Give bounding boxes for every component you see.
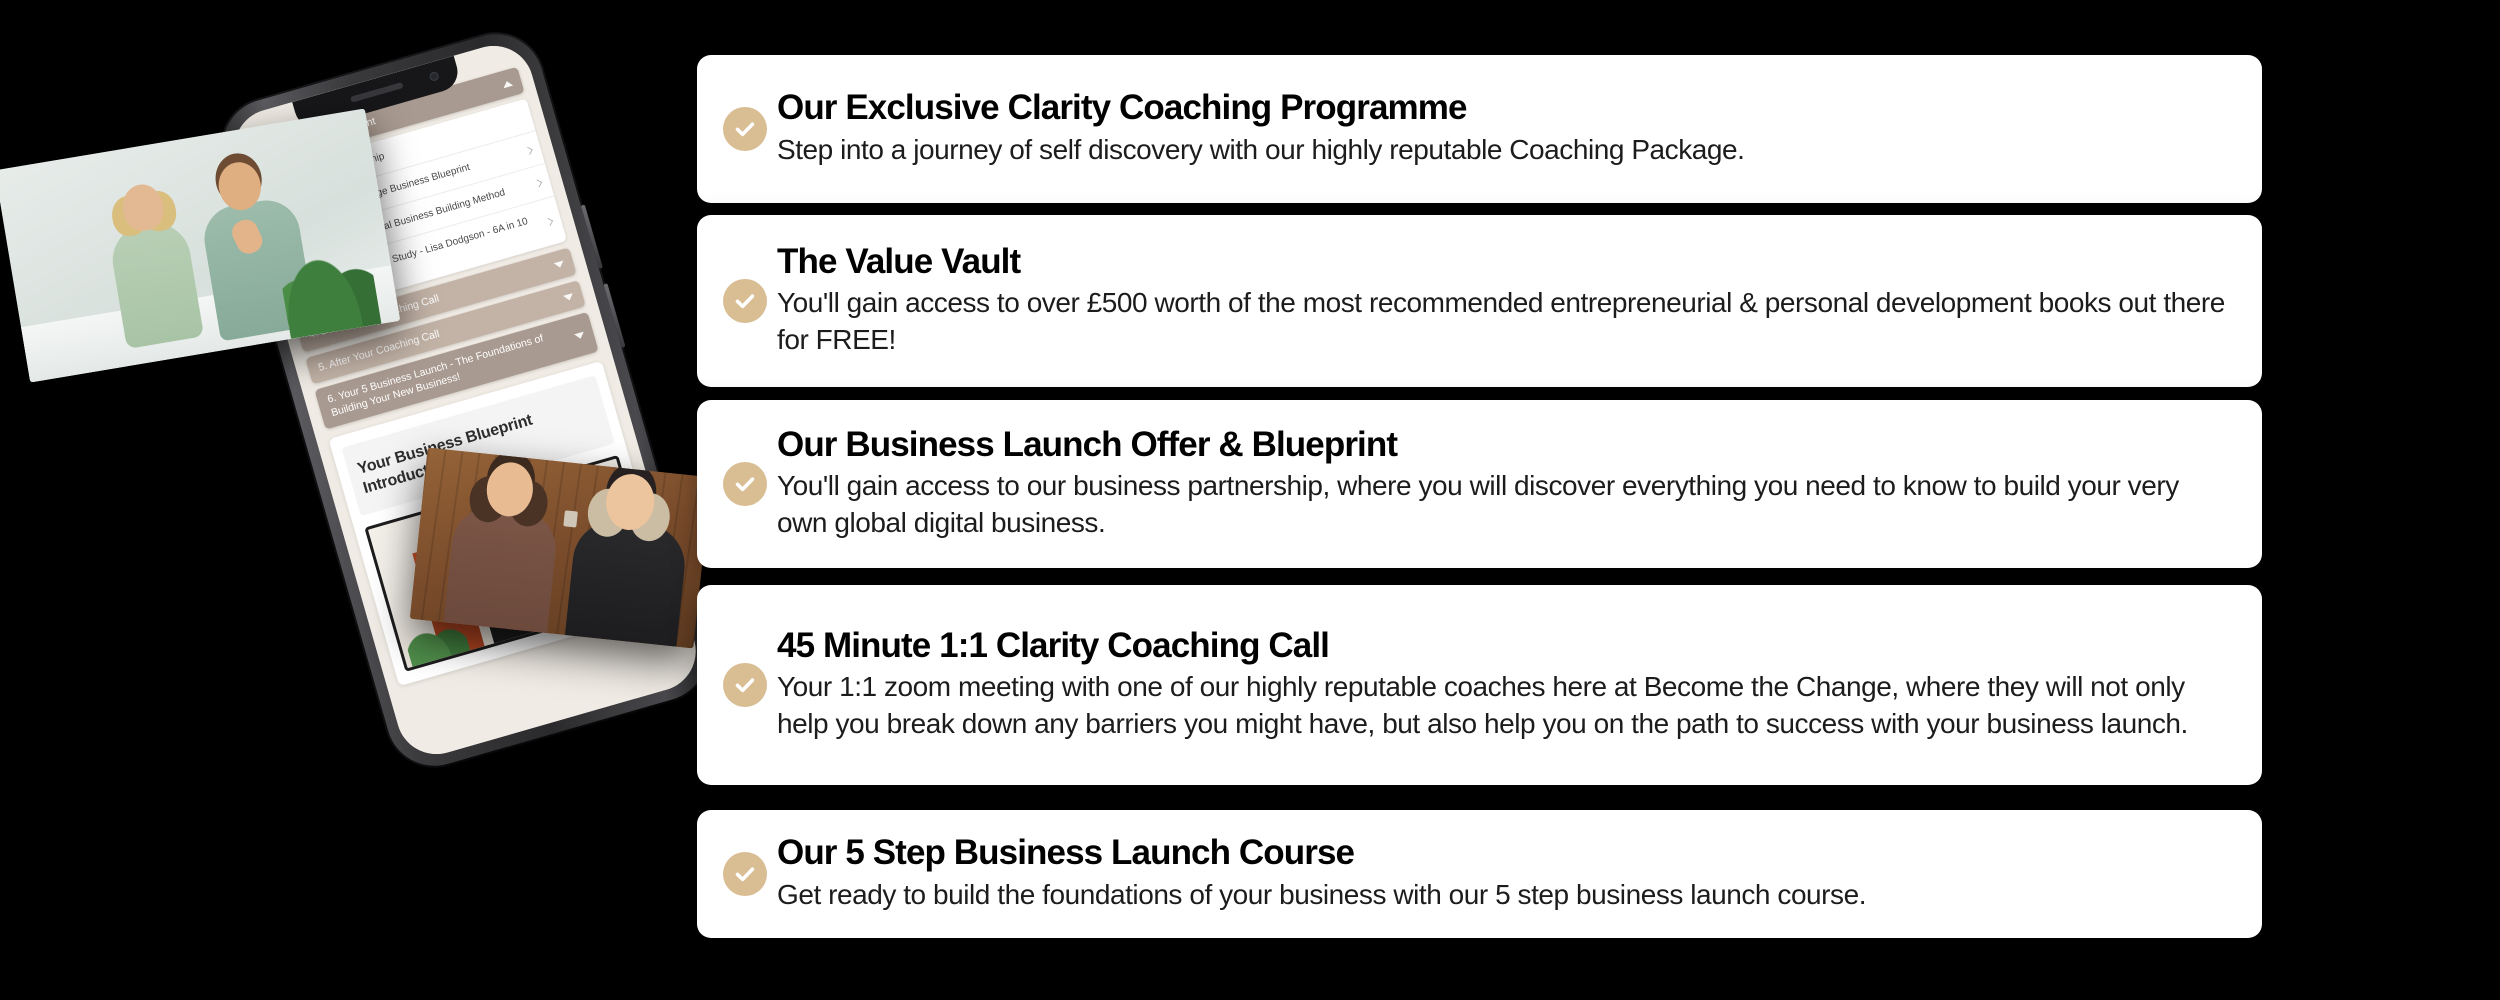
feature-description: Get ready to build the foundations of yo… <box>777 877 2228 914</box>
feature-card[interactable]: Our 5 Step Business Launch Course Get re… <box>697 810 2262 938</box>
feature-card-list: Our Exclusive Clarity Coaching Programme… <box>697 0 2262 1000</box>
chevron-right-icon <box>525 147 533 155</box>
chevron-down-icon <box>574 331 585 340</box>
feature-description: You'll gain access to our business partn… <box>777 468 2228 542</box>
check-circle-icon <box>723 852 767 896</box>
feature-title: The Value Vault <box>777 243 2228 282</box>
chevron-right-icon <box>545 218 553 226</box>
chevron-down-icon <box>563 293 574 302</box>
check-circle-icon <box>723 462 767 506</box>
feature-description: You'll gain access to over £500 worth of… <box>777 285 2228 359</box>
feature-body: Our 5 Step Business Launch Course Get re… <box>777 834 2262 913</box>
feature-body: The Value Vault You'll gain access to ov… <box>777 243 2262 359</box>
still-wall-switch <box>563 510 578 527</box>
still-person-right <box>563 517 689 649</box>
chevron-down-icon <box>554 261 565 270</box>
feature-body: Our Business Launch Offer & Blueprint Yo… <box>777 426 2262 542</box>
feature-body: Our Exclusive Clarity Coaching Programme… <box>777 89 2262 168</box>
feature-card[interactable]: Our Exclusive Clarity Coaching Programme… <box>697 55 2262 203</box>
check-circle-icon <box>723 663 767 707</box>
feature-description: Your 1:1 zoom meeting with one of our hi… <box>777 669 2228 743</box>
device-mockup: 3. Your Business Blueprint Introducing o… <box>0 0 720 1000</box>
feature-title: Our Business Launch Offer & Blueprint <box>777 426 2228 465</box>
earpiece-speaker-icon <box>350 82 404 103</box>
check-circle-icon <box>723 107 767 151</box>
feature-title: Our 5 Step Business Launch Course <box>777 834 2228 873</box>
feature-title: Our Exclusive Clarity Coaching Programme <box>777 89 2228 128</box>
duo-video-still <box>410 448 711 649</box>
feature-title: 45 Minute 1:1 Clarity Coaching Call <box>777 627 2228 666</box>
feature-description: Step into a journey of self discovery wi… <box>777 132 2228 169</box>
feature-card[interactable]: 45 Minute 1:1 Clarity Coaching Call Your… <box>697 585 2262 785</box>
chevron-right-icon <box>534 179 542 187</box>
feature-body: 45 Minute 1:1 Clarity Coaching Call Your… <box>777 627 2262 743</box>
feature-card[interactable]: The Value Vault You'll gain access to ov… <box>697 215 2262 387</box>
check-circle-icon <box>723 279 767 323</box>
still-plant <box>273 217 382 339</box>
still-person-left <box>443 503 560 643</box>
feature-card[interactable]: Our Business Launch Offer & Blueprint Yo… <box>697 400 2262 568</box>
chevron-up-icon <box>502 79 513 88</box>
front-camera-icon <box>429 71 440 82</box>
promo-graphic: 3. Your Business Blueprint Introducing o… <box>0 0 2500 1000</box>
